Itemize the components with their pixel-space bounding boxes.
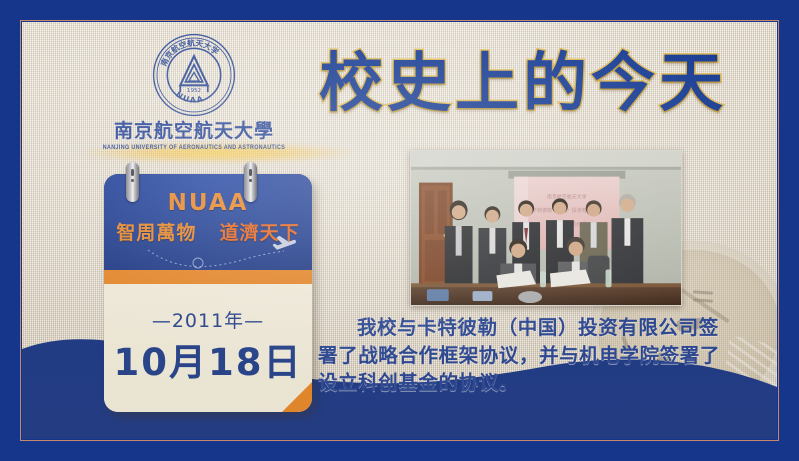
poster-root: 南京航空航天大学 NUAA 1952 南京航空航天大學 NANJING UNIV… [0, 0, 799, 461]
calendar-binder-rings [126, 162, 266, 202]
binder-ring-left [126, 162, 139, 202]
binder-ring-right [244, 162, 257, 202]
inner-copper-border [20, 20, 779, 441]
